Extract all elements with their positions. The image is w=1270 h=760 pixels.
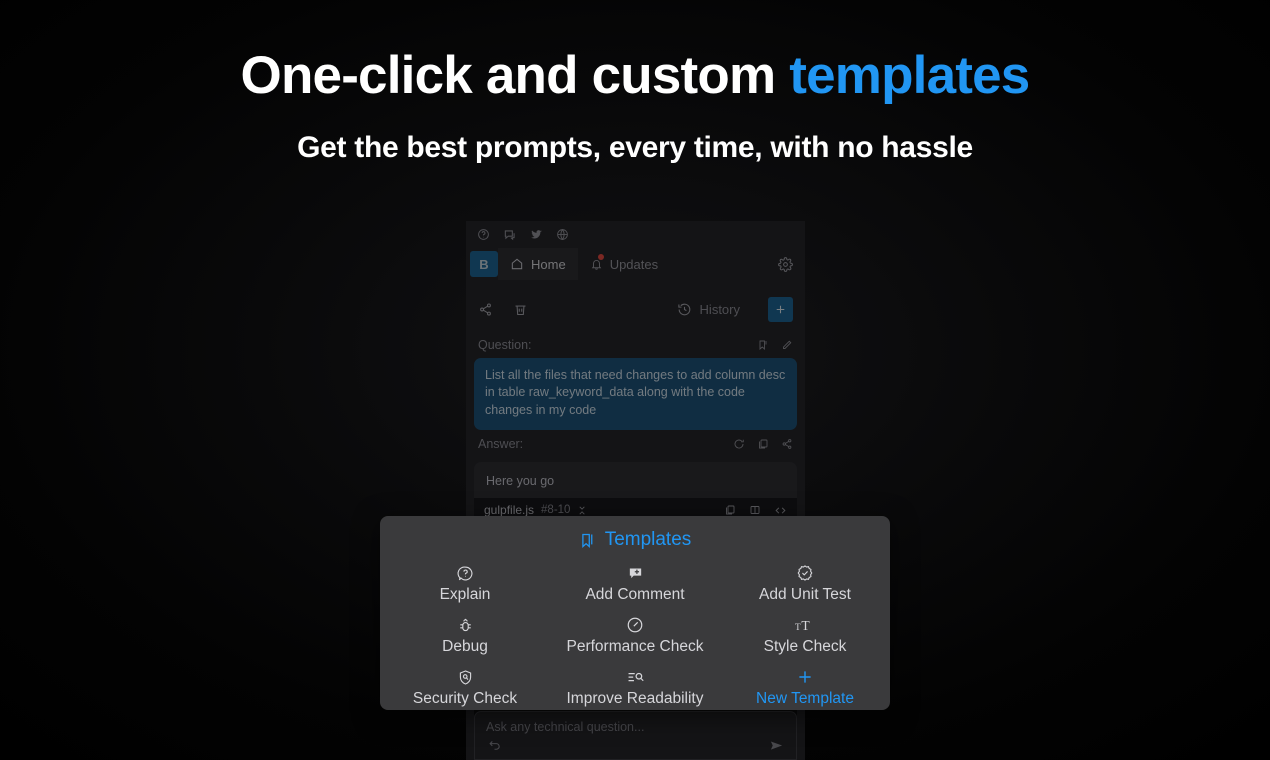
template-label: Performance Check bbox=[567, 638, 704, 656]
template-label: Debug bbox=[442, 638, 488, 656]
templates-panel-title: Templates bbox=[380, 526, 890, 554]
chat-icon[interactable] bbox=[503, 228, 517, 242]
home-icon bbox=[510, 257, 524, 271]
question-label-row: Question: bbox=[466, 335, 805, 355]
answer-text: Here you go bbox=[474, 462, 797, 498]
globe-icon[interactable] bbox=[556, 228, 569, 241]
template-label: Security Check bbox=[413, 690, 517, 708]
page-headline: One-click and custom templates bbox=[0, 46, 1270, 105]
code-line-range: #8-10 bbox=[541, 504, 570, 516]
composer-actions bbox=[475, 738, 796, 753]
template-item-explain[interactable]: Explain bbox=[380, 561, 550, 606]
page-subheadline: Get the best prompts, every time, with n… bbox=[0, 131, 1270, 165]
split-view-icon[interactable] bbox=[749, 504, 761, 516]
tab-updates-label: Updates bbox=[610, 257, 658, 272]
copy-icon[interactable] bbox=[757, 438, 769, 450]
plus-icon bbox=[796, 667, 814, 687]
code-icon[interactable] bbox=[774, 504, 787, 517]
template-item-performance-check[interactable]: Performance Check bbox=[550, 613, 720, 658]
question-circle-icon bbox=[457, 563, 474, 583]
collapse-icon[interactable] bbox=[577, 505, 588, 516]
copy-icon[interactable] bbox=[724, 504, 736, 516]
template-item-add-unit-test[interactable]: Add Unit Test bbox=[720, 561, 890, 606]
template-label: Add Comment bbox=[585, 586, 684, 604]
new-chat-button[interactable] bbox=[768, 297, 793, 322]
history-label: History bbox=[700, 302, 740, 317]
shield-search-icon bbox=[457, 667, 474, 687]
page-root: One-click and custom templates Get the b… bbox=[0, 0, 1270, 760]
template-label: Improve Readability bbox=[567, 690, 704, 708]
template-item-add-comment[interactable]: Add Comment bbox=[550, 561, 720, 606]
history-clock-icon bbox=[677, 302, 692, 317]
template-label: Style Check bbox=[764, 638, 847, 656]
templates-title-label: Templates bbox=[605, 529, 692, 551]
tab-home[interactable]: Home bbox=[498, 248, 578, 280]
undo-icon[interactable] bbox=[487, 738, 502, 753]
list-search-icon bbox=[626, 667, 645, 687]
code-filename: gulpfile.js bbox=[484, 503, 534, 517]
gauge-icon bbox=[626, 615, 644, 635]
send-icon[interactable] bbox=[769, 738, 784, 753]
bookmark-icon bbox=[579, 532, 596, 549]
composer[interactable]: Ask any technical question... bbox=[474, 711, 797, 760]
templates-panel: Templates Explain bbox=[380, 516, 890, 710]
question-bubble: List all the files that need changes to … bbox=[474, 358, 797, 430]
gear-icon[interactable] bbox=[778, 257, 793, 272]
bookmark-icon[interactable] bbox=[757, 339, 769, 351]
app-logo[interactable]: B bbox=[470, 251, 498, 277]
refresh-icon[interactable] bbox=[733, 438, 745, 450]
answer-label: Answer: bbox=[478, 437, 523, 451]
template-item-security-check[interactable]: Security Check bbox=[380, 665, 550, 710]
template-item-improve-readability[interactable]: Improve Readability bbox=[550, 665, 720, 710]
template-item-style-check[interactable]: T T Style Check bbox=[720, 613, 890, 658]
edit-pencil-icon[interactable] bbox=[781, 339, 793, 351]
action-bar: History bbox=[466, 290, 805, 328]
bug-icon bbox=[457, 615, 474, 635]
comment-plus-icon bbox=[627, 563, 644, 583]
template-label: Add Unit Test bbox=[759, 586, 851, 604]
trash-icon[interactable] bbox=[513, 302, 528, 317]
headline-text: One-click and custom bbox=[241, 46, 790, 105]
text-size-icon: T T bbox=[795, 615, 815, 635]
badge-check-icon bbox=[796, 563, 814, 583]
template-item-debug[interactable]: Debug bbox=[380, 613, 550, 658]
utility-icon-row bbox=[466, 221, 805, 248]
updates-badge-dot bbox=[598, 254, 604, 260]
template-label: New Template bbox=[756, 690, 854, 708]
template-item-new-template[interactable]: New Template bbox=[720, 665, 890, 710]
share-icon[interactable] bbox=[781, 438, 793, 450]
svg-text:T: T bbox=[795, 622, 801, 632]
tab-home-label: Home bbox=[531, 257, 566, 272]
twitter-icon[interactable] bbox=[530, 228, 543, 241]
templates-grid: Explain Add Comment Ad bbox=[380, 561, 890, 710]
history-button[interactable]: History bbox=[677, 302, 740, 317]
tab-updates[interactable]: Updates bbox=[578, 248, 670, 280]
composer-placeholder: Ask any technical question... bbox=[475, 712, 796, 734]
tab-bar: B Home Updates bbox=[466, 248, 805, 280]
headline-accent-text: templates bbox=[789, 46, 1029, 105]
share-icon[interactable] bbox=[478, 302, 493, 317]
help-icon[interactable] bbox=[477, 228, 490, 241]
answer-label-row: Answer: bbox=[466, 434, 805, 454]
template-label: Explain bbox=[440, 586, 491, 604]
svg-text:T: T bbox=[801, 617, 810, 632]
question-label: Question: bbox=[478, 338, 532, 352]
